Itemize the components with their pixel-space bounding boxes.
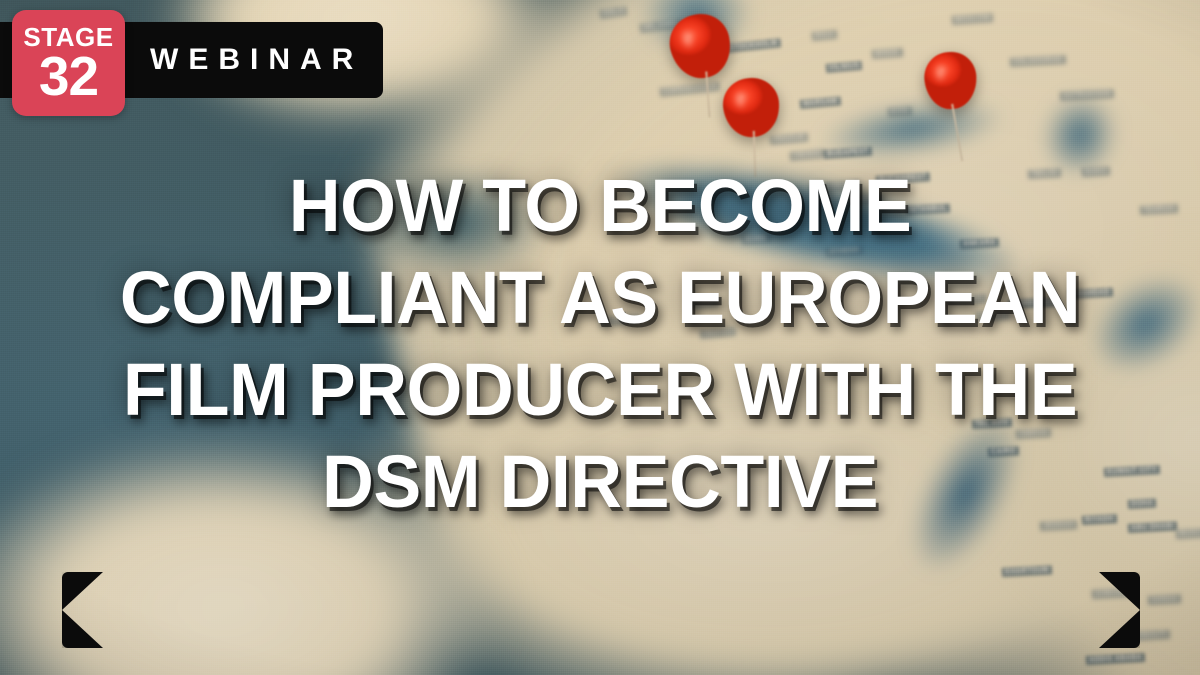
logo-number-text: 32 bbox=[39, 51, 98, 102]
map-pin-head bbox=[720, 75, 782, 140]
title-line-2: COMPLIANT AS EUROPEAN bbox=[39, 252, 1160, 344]
map-pin-head bbox=[923, 50, 979, 111]
webinar-promo-banner: OSLOSTOCKHOLMHELSINKIRIGACOPENHAGENVILNI… bbox=[0, 0, 1200, 675]
map-pin-icon bbox=[720, 75, 783, 152]
title-line-3: FILM PRODUCER WITH THE bbox=[39, 344, 1160, 436]
map-pin-icon bbox=[923, 50, 980, 123]
page-title: HOW TO BECOME COMPLIANT AS EUROPEAN FILM… bbox=[0, 160, 1200, 528]
stage-32-logo: STAGE 32 bbox=[12, 10, 125, 116]
title-line-1: HOW TO BECOME bbox=[39, 160, 1160, 252]
webinar-ribbon-label: WEBINAR bbox=[150, 22, 350, 98]
title-line-4: DSM DIRECTIVE bbox=[39, 436, 1160, 528]
